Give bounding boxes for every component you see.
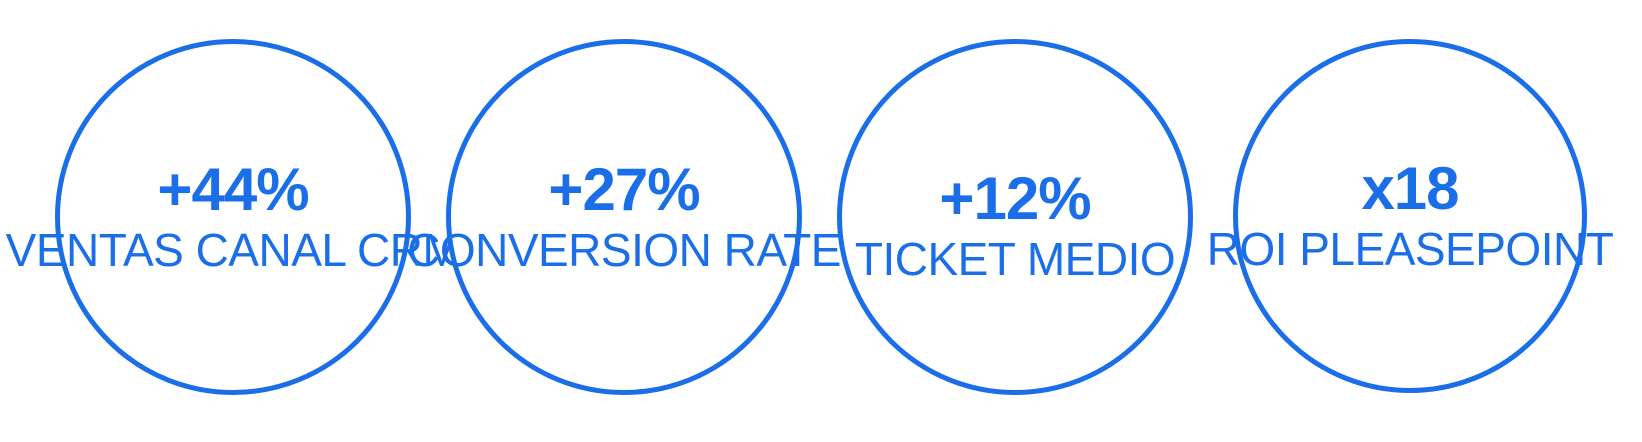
kpi-value: +27% <box>394 159 854 220</box>
kpi-content: +27% CONVERSION RATE <box>394 159 854 276</box>
kpi-label: ROI PLEASEPOINT <box>1180 225 1640 275</box>
kpi-label: CONVERSION RATE <box>394 226 854 276</box>
kpi-content: +12% TICKET MEDIO <box>785 168 1245 285</box>
kpi-label: VENTAS CANAL CRM <box>3 226 463 276</box>
kpi-value: +12% <box>785 168 1245 229</box>
kpi-value: x18 <box>1180 158 1640 219</box>
kpi-board: +44% VENTAS CANAL CRM +27% CONVERSION RA… <box>0 0 1642 442</box>
kpi-circle-ventas-canal-crm: +44% VENTAS CANAL CRM <box>55 39 411 395</box>
kpi-label: TICKET MEDIO <box>785 235 1245 285</box>
kpi-circle-conversion-rate: +27% CONVERSION RATE <box>446 39 802 395</box>
kpi-content: x18 ROI PLEASEPOINT <box>1180 158 1640 275</box>
kpi-circle-roi-pleasepoint: x18 ROI PLEASEPOINT <box>1233 39 1587 393</box>
kpi-circle-ticket-medio: +12% TICKET MEDIO <box>837 39 1193 395</box>
kpi-content: +44% VENTAS CANAL CRM <box>3 159 463 276</box>
kpi-value: +44% <box>3 159 463 220</box>
